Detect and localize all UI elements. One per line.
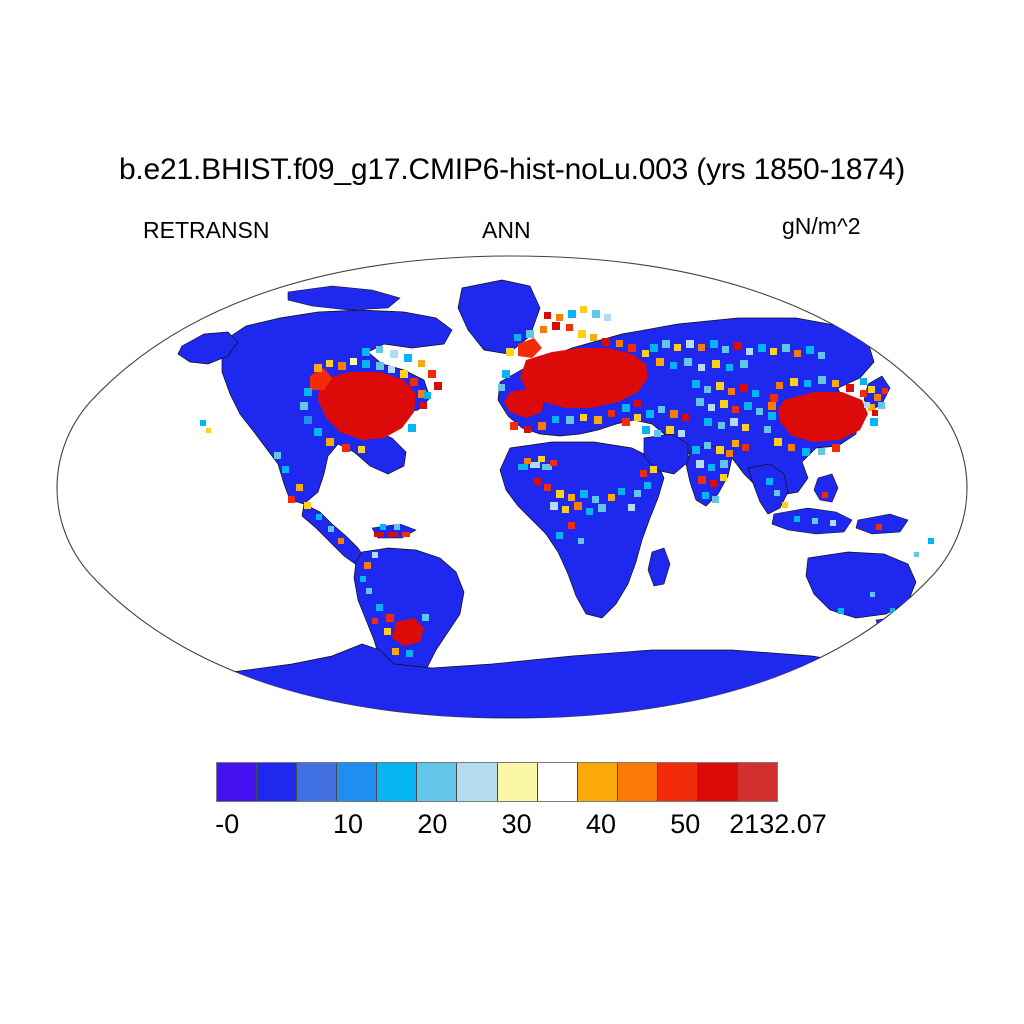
climate-map-figure: b.e21.BHIST.f09_g17.CMIP6-hist-noLu.003 …	[0, 0, 1024, 1024]
colorbar-tick-3: 30	[502, 808, 532, 840]
land-new-zealand	[940, 590, 966, 630]
colorbar-tick-1: 10	[333, 808, 363, 840]
colorbar-tick-4: 40	[586, 808, 616, 840]
colorbar-cell-7[interactable]	[498, 763, 538, 801]
land-tasmania	[876, 618, 892, 632]
colorbar-cells[interactable]	[216, 762, 778, 802]
colorbar-cell-9[interactable]	[578, 763, 618, 801]
units-label: gN/m^2	[782, 212, 861, 240]
colorbar-cell-8[interactable]	[538, 763, 578, 801]
colorbar-tick-6: 2132.07	[729, 808, 827, 840]
colorbar-cell-10[interactable]	[618, 763, 658, 801]
colorbar[interactable]	[216, 762, 778, 802]
colorbar-cell-1[interactable]	[257, 763, 297, 801]
colorbar-cell-6[interactable]	[457, 763, 497, 801]
variable-label: RETRANSN	[143, 216, 270, 244]
colorbar-cell-4[interactable]	[377, 763, 417, 801]
colorbar-tick-labels: -010203040502132.07	[196, 808, 856, 844]
season-label: ANN	[482, 216, 531, 244]
colorbar-cell-11[interactable]	[658, 763, 698, 801]
colorbar-cell-5[interactable]	[417, 763, 457, 801]
colorbar-cell-3[interactable]	[337, 763, 377, 801]
colorbar-tick-5: 50	[670, 808, 700, 840]
colorbar-cell-2[interactable]	[297, 763, 337, 801]
colorbar-tick-0: -0	[215, 808, 239, 840]
world-map-svg	[32, 252, 992, 722]
map-plot-area	[32, 252, 992, 722]
page-title: b.e21.BHIST.f09_g17.CMIP6-hist-noLu.003 …	[0, 152, 1024, 188]
subtitle-row: RETRANSN ANN gN/m^2	[0, 212, 1024, 242]
colorbar-cell-13[interactable]	[738, 763, 777, 801]
colorbar-cell-0[interactable]	[217, 763, 257, 801]
colorbar-cell-12[interactable]	[698, 763, 738, 801]
colorbar-tick-2: 20	[417, 808, 447, 840]
